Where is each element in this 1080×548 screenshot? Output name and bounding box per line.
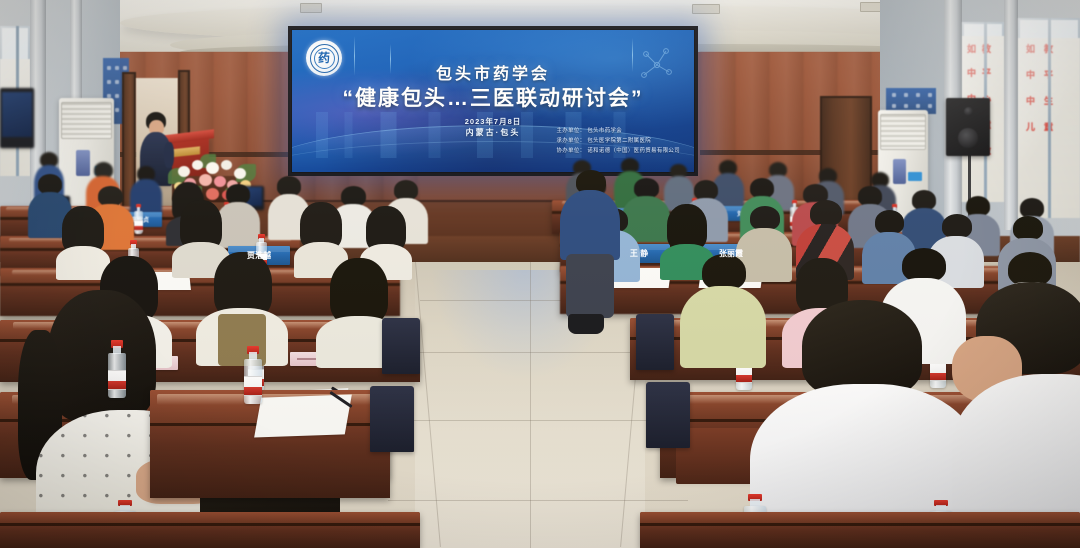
window-right-outer: 如 教 中 平 中 生 儿 童 (1018, 18, 1080, 218)
conference-hall-photo: 药 包头市药学会 “健康包头…三医联动研讨会” 2023年7月8日 内蒙古·包头… (0, 0, 1080, 548)
attendee-foreground-right-b (952, 282, 1080, 548)
ac-grill-left (61, 102, 112, 139)
floor-tile-seam (388, 500, 688, 501)
ceiling-vent (300, 3, 322, 13)
chair-aisle-right-2 (646, 382, 690, 448)
organizer-line-coorganizer: 协办单位： 诺和诺德（中国）医药贸易有限公司 (556, 146, 680, 156)
wall-display-left (0, 88, 34, 148)
name-plate-text: 王 静 (630, 248, 648, 259)
attendee-hair (802, 300, 922, 396)
desk-foreground-bottom (0, 512, 420, 548)
organizer-line-host: 主办单位： 包头市药学会 (556, 126, 680, 136)
screen-organizers: 主办单位： 包头市药学会 承办单位： 包头医学院第二附属医院 协办单位： 诺和诺… (556, 126, 680, 156)
attendee-aisle-right (560, 170, 620, 340)
ac-grill-right (880, 114, 926, 150)
organizer-line-undertaker: 承办单位： 包头医学院第二附属医院 (556, 136, 680, 146)
water-bottle (108, 340, 126, 398)
screen-title: 包头市药学会 (292, 60, 694, 84)
led-screen: 药 包头市药学会 “健康包头…三医联动研讨会” 2023年7月8日 内蒙古·包头… (292, 30, 694, 172)
pa-speaker-right (946, 98, 990, 156)
name-plate-text: 张丽霞 (719, 248, 743, 259)
emblem-glyph: 药 (318, 52, 330, 64)
note-paper (254, 394, 352, 437)
ceiling-vent (692, 4, 720, 14)
water-bottle (134, 204, 143, 234)
speaker-tweeter-icon (964, 107, 973, 116)
led-screen-frame: 药 包头市药学会 “健康包头…三医联动研讨会” 2023年7月8日 内蒙古·包头… (288, 26, 698, 176)
chair-aisle-right (636, 314, 674, 370)
screen-subtitle: “健康包头…三医联动研讨会” (292, 82, 694, 112)
desk-foreground-bottom-right (640, 512, 1080, 548)
speaker-cone-icon (958, 128, 978, 148)
attendee-hair (48, 290, 156, 422)
floor-tile-seam (530, 262, 531, 548)
floor-tile-seam (400, 420, 670, 421)
wall-column-right-2 (1004, 0, 1018, 230)
name-plate-text: 贾浩越 (247, 250, 271, 261)
floor-tile-seam (412, 352, 652, 353)
ac-label-right (908, 172, 922, 181)
window-glare-far (1018, 18, 1080, 218)
chair-aisle-left (382, 318, 420, 374)
chair-aisle-left-2 (370, 386, 414, 452)
water-bottle (244, 346, 262, 404)
